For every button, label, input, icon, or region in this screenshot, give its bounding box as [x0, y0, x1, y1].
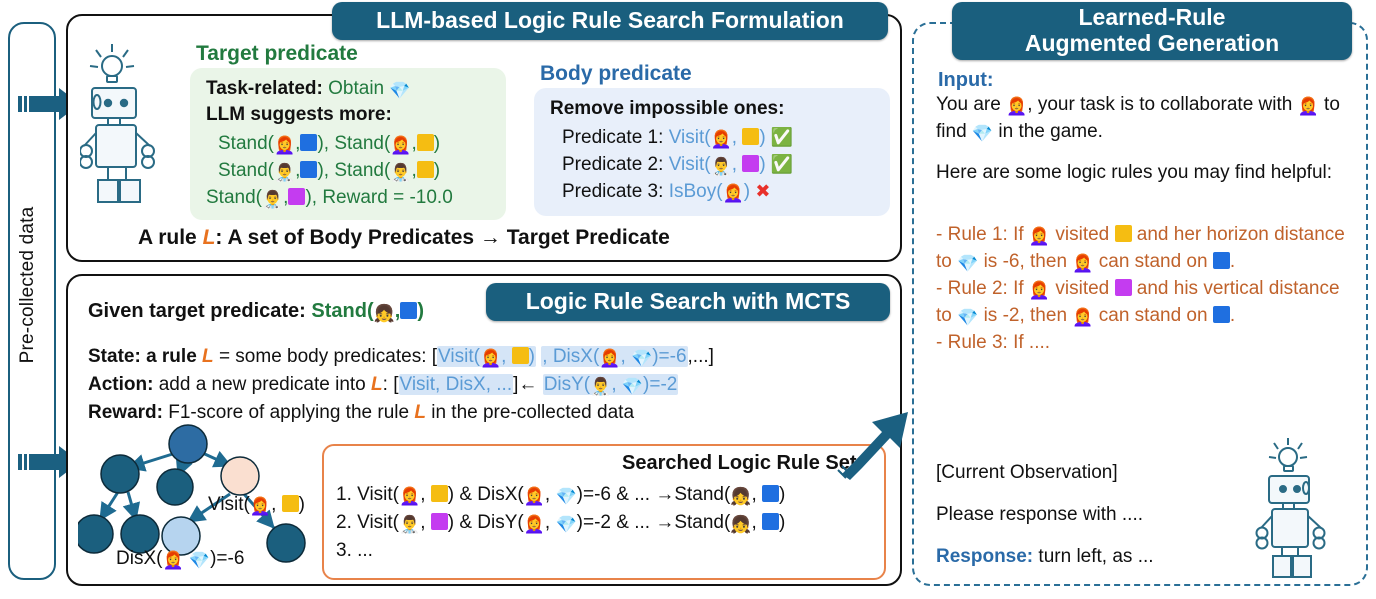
rule-set-item-3: 3. ...: [336, 540, 373, 562]
yellow-square-icon: [417, 134, 434, 151]
boy-icon: 👨‍⚕️: [390, 163, 411, 182]
pre-collected-data-label: Pre-collected data: [17, 145, 39, 425]
figure-canvas: Pre-collected data LLM-based Logic Rule …: [0, 0, 1376, 599]
girl-icon: 👩‍🦰: [1029, 281, 1050, 300]
gem-icon: 💎: [555, 515, 576, 534]
blue-square-icon: [762, 485, 779, 502]
yellow-square-icon: [1115, 225, 1132, 242]
girl-icon: 👩‍🦰: [162, 551, 183, 570]
mcts-reward-line: Reward: F1-score of applying the rule L …: [88, 402, 634, 424]
gem-icon: 💎: [957, 254, 978, 273]
yellow-square-icon: [282, 495, 299, 512]
searched-rule-set-title: Searched Logic Rule Set: [622, 452, 857, 475]
girl-icon: 👩‍🦰: [390, 136, 411, 155]
mcts-action-line: Action: add a new predicate into L: [Vis…: [88, 374, 678, 397]
boy-icon: 👨‍⚕️: [274, 163, 295, 182]
blue-square-icon: [300, 161, 317, 178]
girl-icon: 👩‍🦰: [723, 184, 744, 203]
rule-set-item-1: 1. Visit(👩‍🦰, ) & DisX(👩‍🦰, 💎)=-6 & ... …: [336, 484, 785, 507]
boy-icon: 👨‍⚕️: [711, 157, 732, 176]
input-body: You are 👩‍🦰, your task is to collaborate…: [936, 92, 1356, 146]
blue-square-icon: [762, 513, 779, 530]
body-predicate-item-2: Predicate 2: Visit(👨‍⚕️, ) ✅: [562, 151, 793, 180]
suggestion-row-3: Stand(👨‍⚕️,), Reward = -10.0: [206, 185, 453, 213]
purple-square-icon: [1115, 279, 1132, 296]
learned-rule-generation-title: Learned-Rule Augmented Generation: [952, 2, 1352, 60]
gem-icon: 💎: [555, 487, 576, 506]
blue-square-icon: [300, 134, 317, 151]
cross-icon: ✖: [755, 181, 770, 201]
tree-node-root: [169, 425, 207, 463]
check-icon: ✅: [771, 154, 793, 174]
yellow-square-icon: [512, 347, 529, 364]
boy-icon: 👨‍⚕️: [590, 377, 611, 396]
helpful-text: Here are some logic rules you may find h…: [936, 160, 1352, 185]
girl-icon: 👩‍🦰: [1072, 308, 1093, 327]
blue-square-icon: [400, 302, 417, 319]
suggestion-row-2: Stand(👨‍⚕️,), Stand(👨‍⚕️,): [218, 158, 440, 186]
tree-node: [267, 524, 305, 562]
girl-icon: 👩‍🦰: [1006, 97, 1027, 116]
blue-square-icon: [1213, 252, 1230, 269]
purple-square-icon: [431, 513, 448, 530]
girl-icon: 👩‍🦰: [1072, 254, 1093, 273]
given-target-predicate-line: Given target predicate: Stand(👧,): [88, 300, 424, 324]
llm-formulation-title: LLM-based Logic Rule Search Formulation: [332, 2, 888, 40]
yellow-square-icon: [431, 485, 448, 502]
girl-icon: 👩‍🦰: [1029, 227, 1050, 246]
learned-rule-2: - Rule 2: If 👩‍🦰 visited and his vertica…: [936, 276, 1356, 330]
remove-impossible-label: Remove impossible ones:: [550, 96, 784, 122]
body-predicate-item-3: Predicate 3: IsBoy(👩‍🦰) ✖: [562, 178, 770, 207]
boy-icon: 👨‍⚕️: [262, 190, 283, 209]
tree-label-visit: Visit(👩‍🦰, ): [208, 494, 305, 517]
task-related-line: Task-related: Obtain 💎: [206, 76, 411, 104]
learned-rule-1: - Rule 1: If 👩‍🦰 visited and her horizon…: [936, 222, 1356, 276]
response-line: Response: turn left, as ...: [936, 544, 1154, 569]
llm-suggests-label: LLM suggests more:: [206, 102, 392, 128]
gem-icon: 💎: [631, 349, 652, 368]
body-predicate-heading: Body predicate: [540, 62, 692, 86]
girl-blonde-icon: 👧: [730, 487, 751, 506]
girl-icon: 👩‍🦰: [1298, 97, 1319, 116]
learned-rules-list: - Rule 1: If 👩‍🦰 visited and her horizon…: [936, 222, 1356, 355]
gem-icon: 💎: [957, 308, 978, 327]
yellow-square-icon: [742, 128, 759, 145]
girl-blonde-icon: 👧: [374, 304, 395, 323]
girl-icon: 👩‍🦰: [399, 487, 420, 506]
mcts-panel-title: Logic Rule Search with MCTS: [486, 283, 890, 321]
learned-rule-3: - Rule 3: If ....: [936, 330, 1356, 355]
gem-icon: 💎: [972, 124, 993, 143]
check-icon: ✅: [771, 127, 793, 147]
purple-square-icon: [742, 155, 759, 172]
tree-node: [157, 469, 193, 505]
girl-icon: 👩‍🦰: [524, 487, 545, 506]
girl-icon: 👩‍🦰: [274, 136, 295, 155]
target-predicate-heading: Target predicate: [196, 42, 358, 66]
girl-icon: 👩‍🦰: [480, 349, 501, 368]
body-predicate-item-1: Predicate 1: Visit(👩‍🦰, ) ✅: [562, 124, 793, 153]
robot-lightbulb-icon: [80, 38, 184, 208]
input-label: Input:: [938, 68, 994, 93]
tree-node-selected: [221, 457, 259, 495]
tree-node: [78, 515, 113, 553]
purple-square-icon: [288, 188, 305, 205]
girl-blonde-icon: 👧: [730, 515, 751, 534]
blue-square-icon: [1213, 306, 1230, 323]
girl-icon: 👩‍🦰: [711, 130, 732, 149]
yellow-square-icon: [417, 161, 434, 178]
gem-icon: 💎: [389, 81, 410, 100]
suggestion-row-1: Stand(👩‍🦰,), Stand(👩‍🦰,): [218, 131, 440, 159]
please-response-text: Please response with ....: [936, 502, 1143, 527]
current-observation-text: [Current Observation]: [936, 460, 1118, 485]
girl-icon: 👩‍🦰: [524, 515, 545, 534]
boy-icon: 👨‍⚕️: [399, 515, 420, 534]
gem-icon: 💎: [189, 551, 210, 570]
gem-icon: 💎: [622, 377, 643, 396]
rule-set-item-2: 2. Visit(👨‍⚕️, ) & DisY(👩‍🦰, 💎)=-2 & ...…: [336, 512, 785, 535]
tree-label-disx: DisX(👩‍🦰 💎)=-6: [116, 548, 244, 571]
mcts-state-line: State: a rule L = some body predicates: …: [88, 346, 714, 369]
girl-icon: 👩‍🦰: [599, 349, 620, 368]
rule-definition-line: A rule L: A set of Body Predicates → Tar…: [138, 226, 670, 250]
tree-node: [101, 455, 139, 493]
girl-icon: 👩‍🦰: [250, 497, 271, 516]
robot-lightbulb-icon-right: [1236, 436, 1340, 580]
